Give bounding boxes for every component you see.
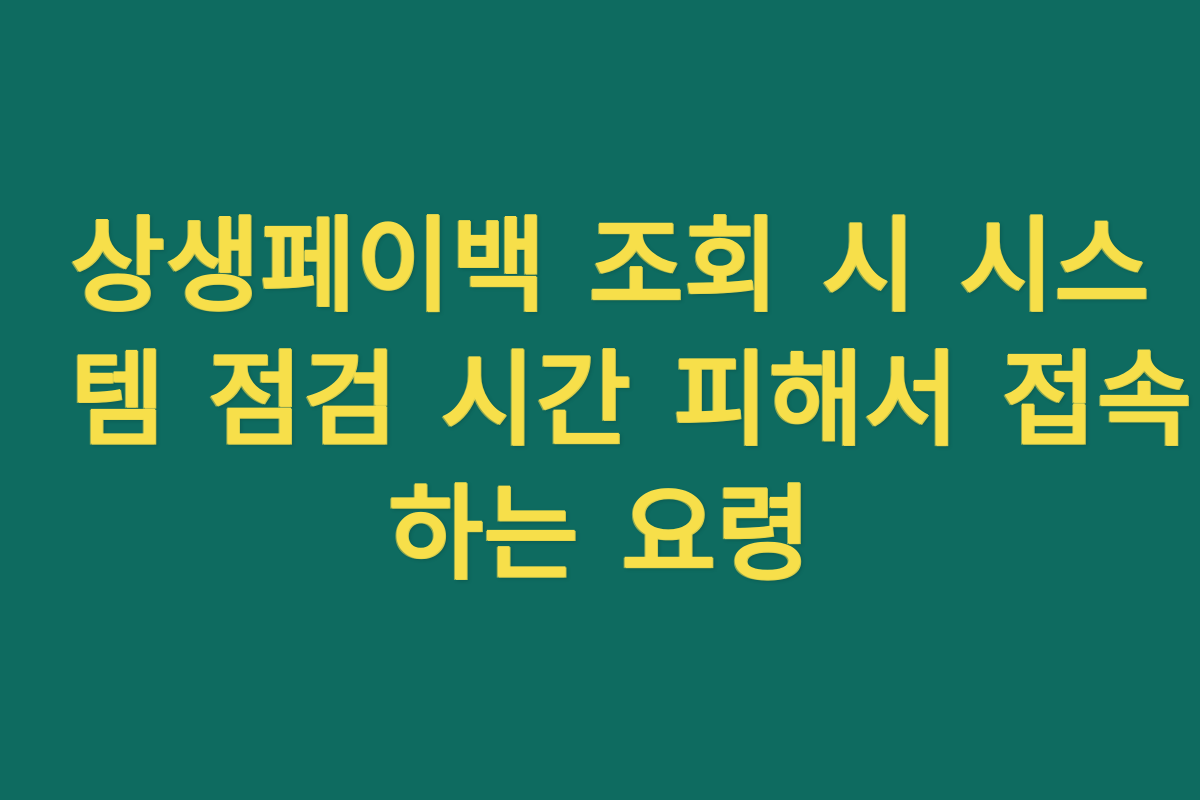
banner-canvas: 상생페이백 조회 시 시스 템 점검 시간 피해서 접속 하는 요령 xyxy=(0,0,1200,800)
headline-line-3: 하는 요령 xyxy=(70,467,1130,601)
page-title: 상생페이백 조회 시 시스 템 점검 시간 피해서 접속 하는 요령 xyxy=(70,199,1130,601)
headline-line-2: 템 점검 시간 피해서 접속 xyxy=(70,333,1130,467)
headline-line-1: 상생페이백 조회 시 시스 xyxy=(70,199,1130,333)
